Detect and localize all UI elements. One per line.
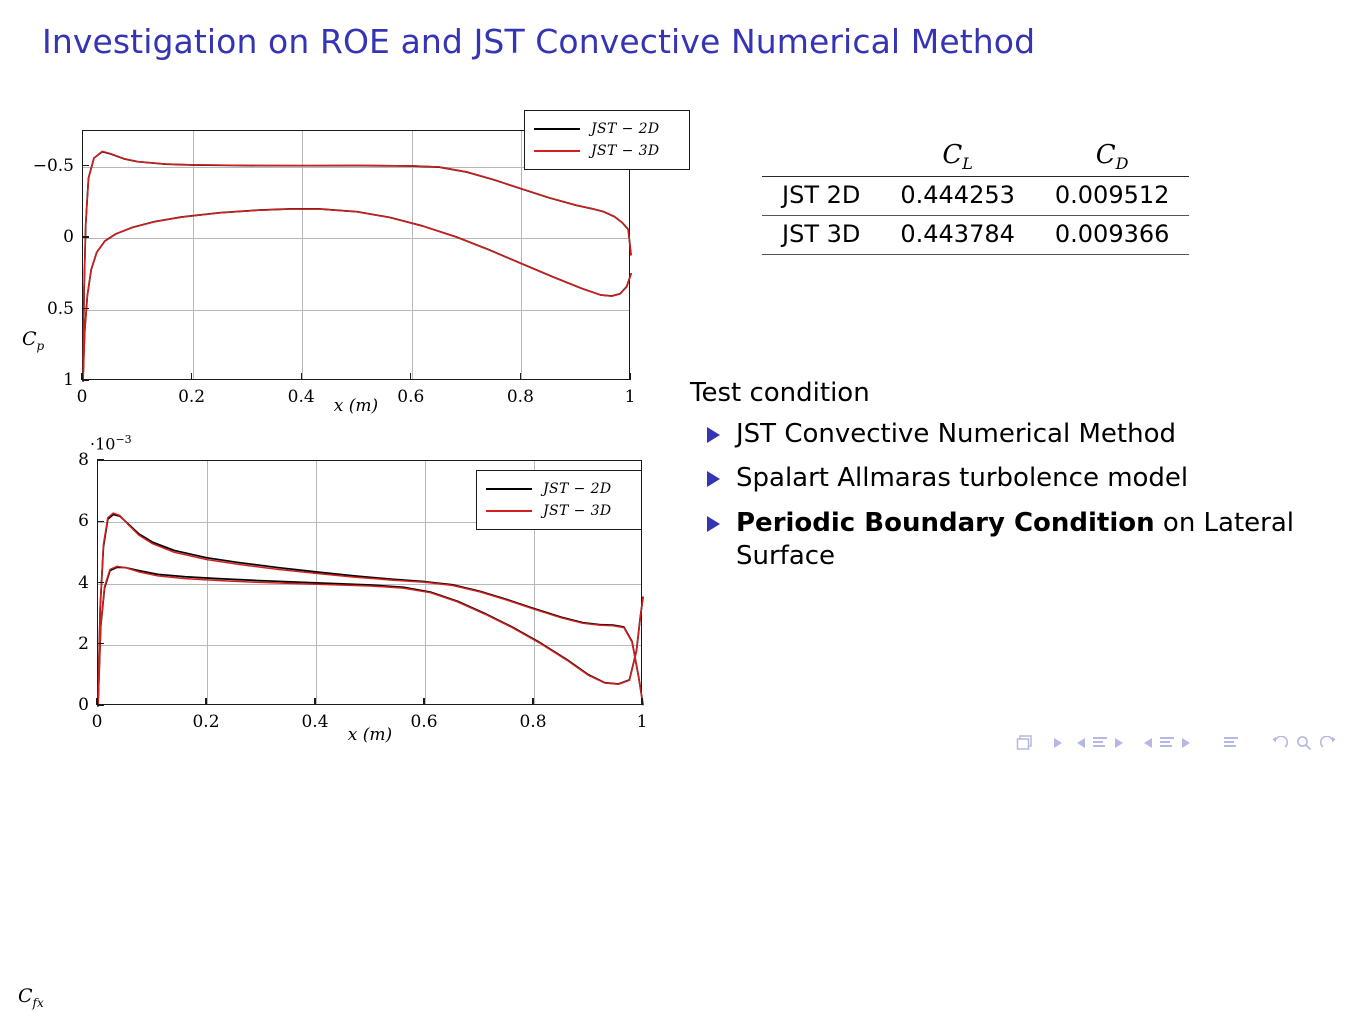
- curve-JST2D-lower_surface: [83, 209, 631, 381]
- prev-subsection-icon[interactable]: [1143, 737, 1153, 749]
- test-condition-block: Test condition JST Convective Numerical …: [690, 378, 1350, 584]
- bottom-rule: [762, 255, 880, 256]
- y-axis-tick-label: 6: [39, 511, 89, 531]
- bullet-label: JST Convective Numerical Method: [736, 418, 1176, 451]
- x-axis-tick: [641, 698, 642, 705]
- x-axis-tick: [423, 698, 424, 705]
- bullet-label: Spalart Allmaras turbolence model: [736, 462, 1188, 495]
- page-title: Investigation on ROE and JST Convective …: [42, 22, 1035, 61]
- x-axis-tick-label: 0.8: [507, 387, 534, 407]
- subsection-icon[interactable]: [1159, 736, 1175, 750]
- bullet-triangle-icon: [707, 516, 720, 532]
- y-axis-tick: [82, 165, 89, 166]
- x-axis-tick-label: 0.2: [178, 387, 205, 407]
- x-axis-tick-label: 0.2: [192, 712, 219, 732]
- x-axis-tick: [314, 698, 315, 705]
- x-axis-tick: [532, 698, 533, 705]
- prev-frame-icon[interactable]: [1076, 737, 1086, 749]
- y-axis-tick-label: 0: [24, 227, 74, 247]
- bullet-bold-prefix: Periodic Boundary Condition: [736, 508, 1155, 538]
- test-condition-heading: Test condition: [690, 378, 1350, 408]
- row-cd-value: 0.009512: [1035, 177, 1190, 216]
- nav-group-frame[interactable]: [1050, 736, 1127, 750]
- cfx-y-axis-label: Cfx: [18, 985, 44, 1010]
- cp-legend: JST − 2D JST − 3D: [524, 110, 690, 170]
- curve-JST2D-upper_surface: [98, 515, 643, 706]
- y-axis-tick-label: 1: [24, 370, 74, 390]
- bottom-rule: [880, 255, 1035, 256]
- y-axis-tick-label: 0.5: [24, 299, 74, 319]
- x-axis-tick-label: 0.6: [397, 387, 424, 407]
- nav-group-section[interactable]: [1220, 736, 1242, 750]
- results-table: CL CD JST 2D 0.444253 0.009512 JST 3D 0.…: [762, 136, 1189, 255]
- cfx-skin-friction-chart: Cfx ·10−3 x (m) JST − 2D JST − 3D 00.20.…: [0, 430, 700, 765]
- x-axis-tick-label: 0: [77, 387, 88, 407]
- legend-swatch-jst-3d: [486, 510, 532, 512]
- cp-y-axis-label: Cp: [22, 328, 44, 353]
- legend-swatch-jst-3d: [534, 150, 580, 152]
- back-icon[interactable]: [1271, 736, 1288, 751]
- bullet-triangle-icon: [707, 471, 720, 487]
- x-axis-tick-label: 1: [637, 712, 648, 732]
- bullet-triangle-icon: [707, 427, 720, 443]
- row-cl-value: 0.444253: [880, 177, 1035, 216]
- table-row: JST 2D 0.444253 0.009512: [762, 177, 1189, 216]
- curve-JST2D-upper_surface: [83, 152, 631, 381]
- forward-icon[interactable]: [1320, 736, 1337, 751]
- row-cl-value: 0.443784: [880, 216, 1035, 255]
- curve-JST3D-lower_surface: [83, 209, 631, 381]
- search-icon[interactable]: [1296, 735, 1312, 751]
- x-axis-tick-label: 0.8: [519, 712, 546, 732]
- row-label: JST 2D: [762, 177, 880, 216]
- y-axis-tick-label: −0.5: [24, 156, 74, 176]
- x-axis-tick: [191, 373, 192, 380]
- x-axis-tick: [520, 373, 521, 380]
- y-axis-tick-label: 4: [39, 573, 89, 593]
- legend-item: JST − 2D: [486, 478, 629, 500]
- legend-label-jst-3d: JST − 3D: [543, 503, 612, 519]
- legend-item: JST − 3D: [486, 500, 629, 522]
- curve-JST2D-lower_surface: [98, 567, 643, 706]
- nav-group-history[interactable]: [1268, 735, 1340, 751]
- next-subsection-icon[interactable]: [1181, 737, 1191, 749]
- legend-label-jst-2d: JST − 2D: [591, 121, 660, 137]
- frame-icon[interactable]: [1092, 736, 1108, 750]
- cp-pressure-coefficient-chart: Cp x (m) JST − 2D JST − 3D 00.20.40.60.8…: [0, 100, 700, 430]
- cfx-x-axis-title: x (m): [348, 725, 392, 745]
- x-axis-tick-label: 0.6: [410, 712, 437, 732]
- list-item: Periodic Boundary Condition on Lateral S…: [690, 507, 1350, 574]
- cfx-legend: JST − 2D JST − 3D: [476, 470, 642, 530]
- legend-item: JST − 2D: [534, 118, 677, 140]
- curve-JST3D-upper_surface: [83, 151, 631, 381]
- y-axis-tick-label: 0: [39, 695, 89, 715]
- section-icon[interactable]: [1223, 736, 1239, 750]
- slide-root: Investigation on ROE and JST Convective …: [0, 0, 1360, 765]
- legend-label-jst-2d: JST − 2D: [543, 481, 612, 497]
- bottom-rule: [1035, 255, 1190, 256]
- next-frame-icon[interactable]: [1114, 737, 1124, 749]
- play-forward-icon[interactable]: [1053, 737, 1063, 749]
- list-item: JST Convective Numerical Method: [690, 418, 1350, 451]
- table-header-cl: CL: [880, 136, 1035, 177]
- legend-label-jst-3d: JST − 3D: [591, 143, 660, 159]
- table-header-row: CL CD: [762, 136, 1189, 177]
- y-axis-tick: [97, 582, 104, 583]
- y-axis-tick-label: 8: [39, 450, 89, 470]
- y-axis-tick: [97, 704, 104, 705]
- table-row: JST 3D 0.443784 0.009366: [762, 216, 1189, 255]
- x-axis-tick-label: 0.4: [301, 712, 328, 732]
- table-header-blank: [762, 136, 880, 177]
- nav-group-subsection[interactable]: [1140, 736, 1194, 750]
- legend-swatch-jst-2d: [486, 488, 532, 490]
- x-axis-tick: [629, 373, 630, 380]
- row-label: JST 3D: [762, 216, 880, 255]
- y-axis-tick: [82, 308, 89, 309]
- beamer-navigation-bar[interactable]: [1013, 735, 1340, 751]
- y-axis-tick: [97, 459, 104, 460]
- x-axis-tick: [410, 373, 411, 380]
- y-axis-tick: [97, 643, 104, 644]
- curve-JST3D-lower_surface: [98, 566, 643, 706]
- x-axis-tick-label: 0: [92, 712, 103, 732]
- y-axis-tick: [97, 521, 104, 522]
- legend-swatch-jst-2d: [534, 128, 580, 130]
- list-item: Spalart Allmaras turbolence model: [690, 462, 1350, 495]
- legend-item: JST − 3D: [534, 140, 677, 162]
- table-bottom-rule-row: [762, 255, 1189, 256]
- x-axis-tick-label: 1: [625, 387, 636, 407]
- coefficients-table: CL CD JST 2D 0.444253 0.009512 JST 3D 0.…: [762, 136, 1189, 255]
- table-header-cd: CD: [1035, 136, 1190, 177]
- row-cd-value: 0.009366: [1035, 216, 1190, 255]
- y-axis-tick-label: 2: [39, 634, 89, 654]
- bullet-label: Periodic Boundary Condition on Lateral S…: [736, 507, 1350, 574]
- cfx-y-axis-multiplier: ·10−3: [90, 433, 132, 453]
- x-axis-tick-label: 0.4: [288, 387, 315, 407]
- y-axis-tick: [82, 236, 89, 237]
- slides-icon[interactable]: [1016, 735, 1034, 751]
- x-axis-tick: [301, 373, 302, 380]
- y-axis-tick: [82, 379, 89, 380]
- cp-x-axis-title: x (m): [334, 396, 378, 416]
- curve-JST3D-upper_surface: [98, 513, 643, 706]
- x-axis-tick: [205, 698, 206, 705]
